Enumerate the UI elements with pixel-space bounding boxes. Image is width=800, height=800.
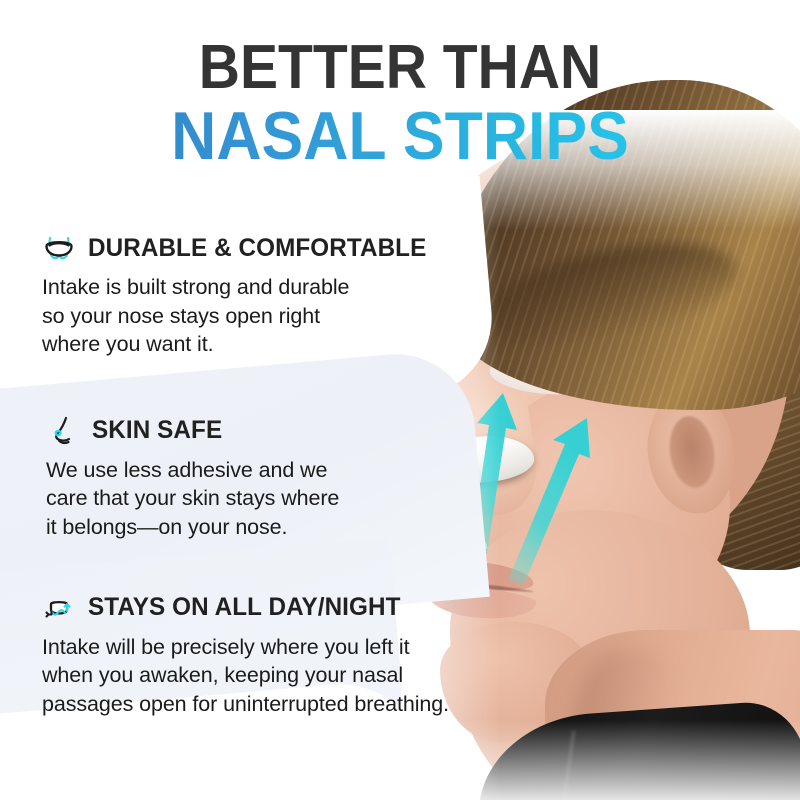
feature-durable-comfortable: DURABLE & COMFORTABLE Intake is built st… <box>0 232 460 359</box>
feature-body-line: care that your skin stays where <box>46 484 460 513</box>
feature-body: Intake will be precisely where you left … <box>42 633 460 719</box>
feature-body-line: when you awaken, keeping your nasal <box>42 661 460 690</box>
feature-title: DURABLE & COMFORTABLE <box>88 234 426 263</box>
feature-header: STAYS ON ALL DAY/NIGHT <box>42 592 460 624</box>
feature-body-line: Intake is built strong and durable <box>42 273 460 302</box>
infographic-canvas: BETTER THAN NASAL STRIPS DURABLE & COMFO… <box>0 0 800 800</box>
headline-line-1: BETTER THAN <box>32 38 768 98</box>
headline: BETTER THAN NASAL STRIPS <box>0 38 800 169</box>
feature-body-line: where you want it. <box>42 330 460 359</box>
feature-body-line: so your nose stays open right <box>42 302 460 331</box>
feature-body: Intake is built strong and durable so yo… <box>42 273 460 359</box>
feature-header: DURABLE & COMFORTABLE <box>42 232 460 264</box>
feature-body-line: passages open for uninterrupted breathin… <box>42 690 460 719</box>
feature-stays-on-all-day-night: STAYS ON ALL DAY/NIGHT Intake will be pr… <box>0 592 460 719</box>
feature-title: SKIN SAFE <box>92 416 222 445</box>
feature-header: SKIN SAFE <box>46 415 460 447</box>
feature-body-line: it belongs—on your nose. <box>46 513 460 542</box>
feature-body-line: We use less adhesive and we <box>46 456 460 485</box>
feature-body-line: Intake will be precisely where you left … <box>42 633 460 662</box>
nose-profile-icon <box>46 415 80 447</box>
device-loop-icon <box>42 592 76 624</box>
feature-body: We use less adhesive and we care that yo… <box>46 456 460 542</box>
feature-skin-safe: SKIN SAFE We use less adhesive and we ca… <box>0 415 460 542</box>
nasal-dilator-icon <box>42 232 76 264</box>
headline-line-2: NASAL STRIPS <box>32 104 768 169</box>
feature-title: STAYS ON ALL DAY/NIGHT <box>88 593 401 622</box>
feature-list: DURABLE & COMFORTABLE Intake is built st… <box>0 232 460 718</box>
